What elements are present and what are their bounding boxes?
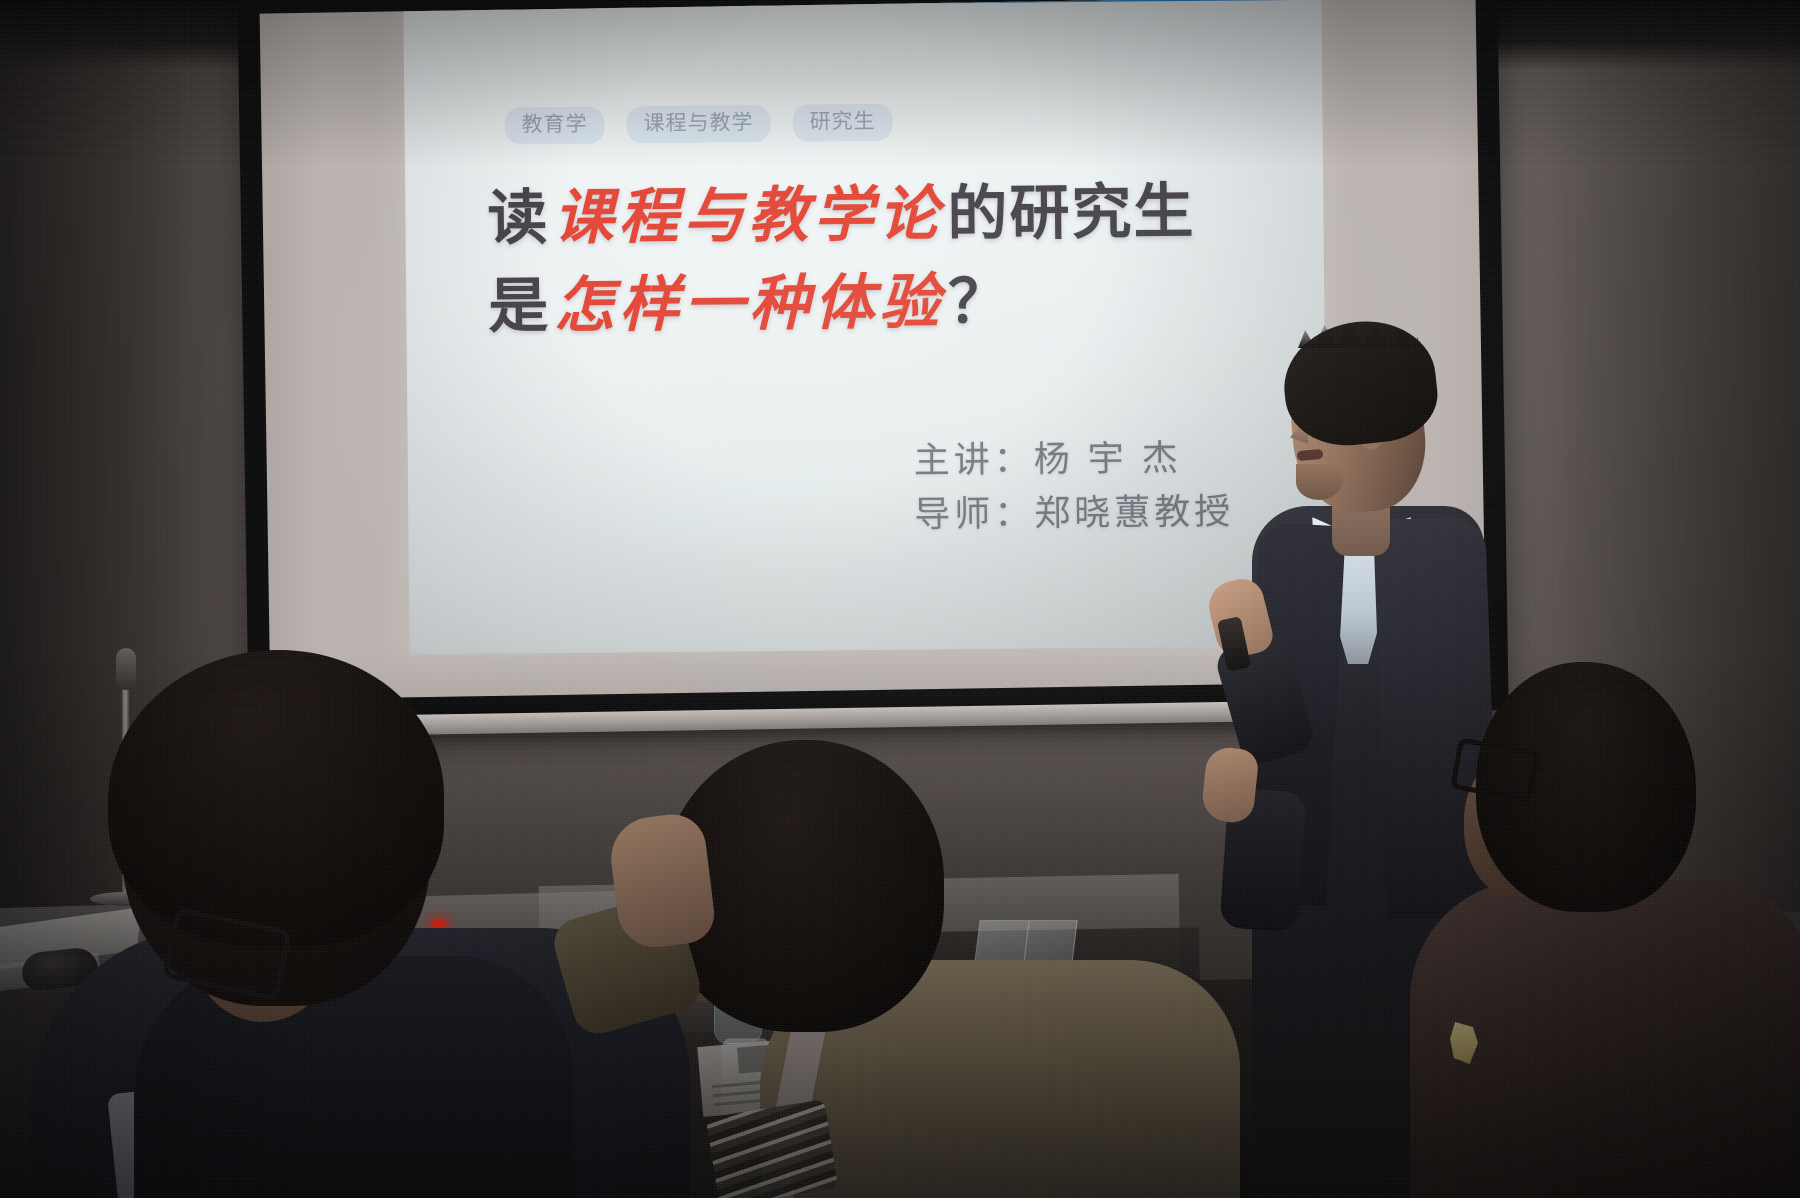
title-segment-dark: ？ xyxy=(948,268,1011,336)
slide-content: 教育学 课程与教学 研究生 读课程与教学论的研究生 是怎样一种体验？ 主讲：杨 … xyxy=(403,0,1327,655)
slide-credits: 主讲：杨 宇 杰 导师：郑晓蕙教授 xyxy=(913,431,1234,542)
title-segment-dark: 读 xyxy=(487,184,550,252)
slide-tag: 研究生 xyxy=(792,104,892,142)
slide-tag: 课程与教学 xyxy=(626,105,770,143)
projected-slide: 教育学 课程与教学 研究生 读课程与教学论的研究生 是怎样一种体验？ 主讲：杨 … xyxy=(403,0,1327,655)
slide-title-line-2: 是怎样一种体验？ xyxy=(488,253,1011,345)
title-segment-red: 课程与教学论 xyxy=(549,179,948,253)
slide-tag-row: 教育学 课程与教学 研究生 xyxy=(504,104,892,145)
title-segment-dark: 的研究生 xyxy=(947,178,1196,247)
credit-advisor-label: 导师： xyxy=(914,493,1034,535)
slide-title-line-1: 读课程与教学论的研究生 xyxy=(487,163,1196,257)
credit-advisor: 导师：郑晓蕙教授 xyxy=(914,485,1235,542)
lecture-room-photo: 教育学 课程与教学 研究生 读课程与教学论的研究生 是怎样一种体验？ 主讲：杨 … xyxy=(0,0,1800,1198)
presenter-chin xyxy=(1296,464,1342,500)
credit-speaker-value: 杨 宇 杰 xyxy=(1034,437,1182,479)
credit-advisor-value: 郑晓蕙教授 xyxy=(1034,491,1234,534)
attendee-center-hand xyxy=(606,811,717,952)
attendee-left-hair xyxy=(108,650,444,946)
credit-speaker: 主讲：杨 宇 杰 xyxy=(913,431,1234,488)
slide-tag: 教育学 xyxy=(504,107,604,145)
attendee-left-vest xyxy=(134,956,574,1198)
attendee-center xyxy=(620,740,1180,1198)
attendee-center-scarf xyxy=(706,1099,839,1198)
attendee-right xyxy=(1440,662,1800,1198)
credit-speaker-label: 主讲： xyxy=(914,439,1034,481)
title-segment-red: 怎样一种体验 xyxy=(550,267,949,341)
title-segment-dark: 是 xyxy=(488,272,551,340)
